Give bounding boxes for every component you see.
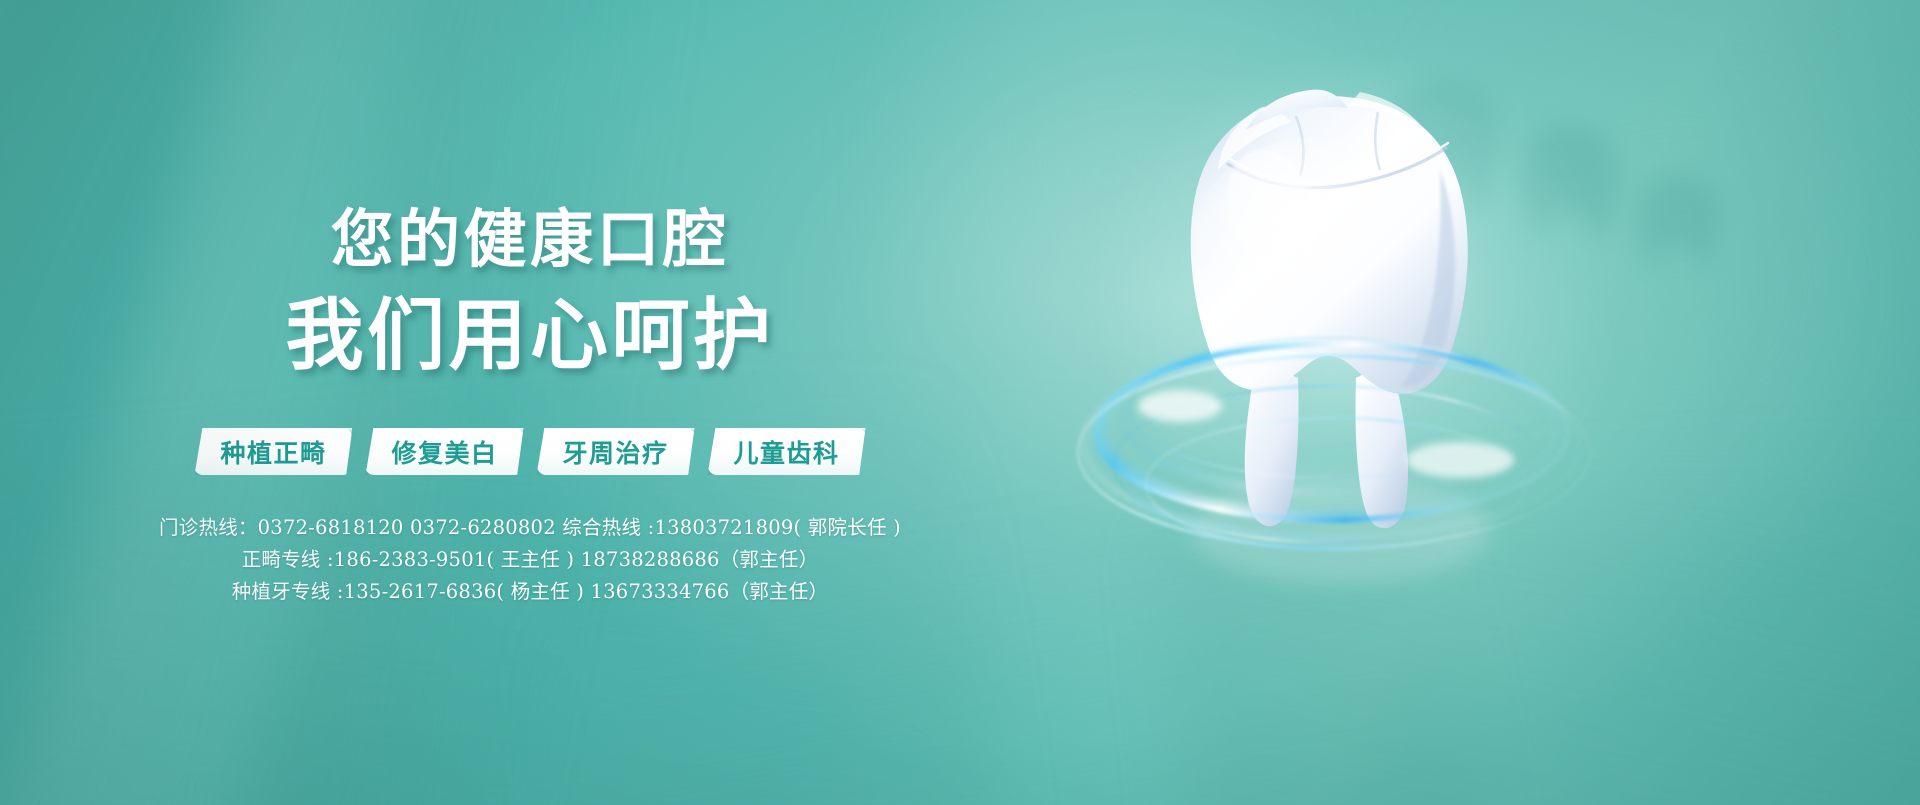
headline-line-1: 您的健康口腔 — [0, 208, 1060, 271]
service-tag-row: 种植正畸 修复美白 牙周治疗 儿童齿科 — [0, 428, 1060, 475]
contact-line-orthodontics-hotline: 正畸专线 :186-2383-9501( 王主任 ) 18738288686（郭… — [0, 544, 1060, 576]
headline-line-2: 我们用心呵护 — [0, 297, 1060, 375]
service-tag-periodontal[interactable]: 牙周治疗 — [537, 428, 695, 475]
service-tag-implant-ortho[interactable]: 种植正畸 — [194, 428, 352, 475]
ghost-tooth-icon-3 — [1630, 170, 1725, 275]
contact-line-implant-hotline: 种植牙专线 :135-2617-6836( 杨主任 ) 13673334766（… — [0, 576, 1060, 608]
dental-clinic-banner: 您的健康口腔 我们用心呵护 种植正畸 修复美白 牙周治疗 儿童齿科 门诊热线：0… — [0, 0, 1920, 805]
contact-line-clinic-hotline: 门诊热线：0372-6818120 0372-6280802 综合热线 :138… — [0, 512, 1060, 544]
tooth-illustration — [1060, 60, 1620, 660]
contact-block: 门诊热线：0372-6818120 0372-6280802 综合热线 :138… — [0, 512, 1060, 608]
service-tag-restoration-whitening[interactable]: 修复美白 — [365, 428, 523, 475]
service-tag-pediatric[interactable]: 儿童齿科 — [708, 428, 866, 475]
banner-copy: 您的健康口腔 我们用心呵护 种植正畸 修复美白 牙周治疗 儿童齿科 门诊热线：0… — [0, 0, 1060, 805]
